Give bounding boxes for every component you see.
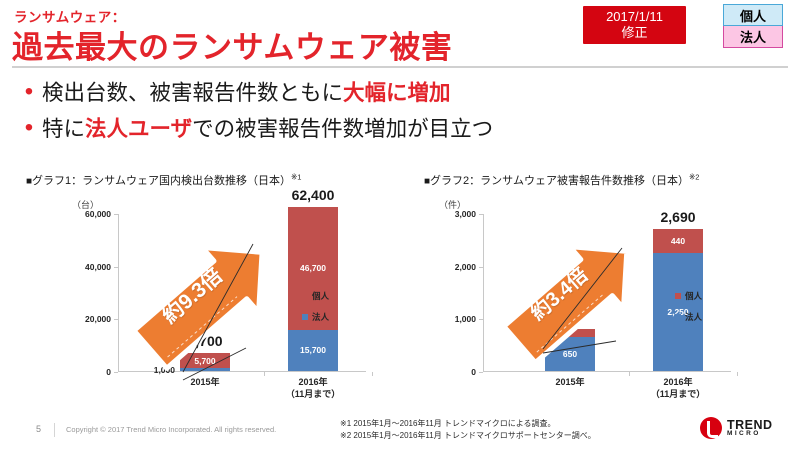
y-axis-tick-label: 40,000 — [85, 262, 111, 272]
bar-total-label: 2,690 — [660, 209, 695, 225]
bullet-text-plain: 検出台数、被害報告件数ともに — [42, 81, 343, 105]
legend-item-hojin: 法人 — [675, 311, 702, 323]
bar-segment-value: 1,000 — [154, 365, 175, 375]
y-axis-tick-mark — [114, 267, 118, 268]
legend-item-kojin: 個人 — [675, 290, 702, 302]
bar-1[interactable]: 1,0005,7006,7002015年 — [180, 353, 230, 371]
y-axis-tick-mark — [114, 319, 118, 320]
chart2-heading-note: ※2 — [689, 172, 699, 181]
x-axis-label: 2015年 — [555, 376, 584, 388]
trend-micro-logo: TREND MICRO — [700, 417, 773, 439]
x-axis-tick-mark — [629, 372, 630, 376]
bar-segment-kojin[interactable]: 440 — [653, 229, 703, 252]
bar-2[interactable]: 15,70046,70062,4002016年（11月まで） — [288, 207, 338, 371]
page-title: 過去最大のランサムウェア被害 — [12, 22, 452, 67]
bullet-marker: • — [16, 114, 42, 142]
x-axis-tick-mark — [737, 372, 738, 376]
bar-segment-value: 440 — [671, 236, 685, 246]
x-axis-label-line2: （11月まで） — [651, 388, 706, 400]
chart1-heading: ■グラフ1：ランサムウェア国内検出台数推移（日本）※1 — [26, 172, 301, 188]
title-divider — [12, 66, 788, 68]
bullet-text-plain: 特に — [42, 117, 85, 141]
bar-segment-value: 46,700 — [300, 263, 326, 273]
legend-item-hojin: 法人 — [302, 311, 329, 323]
bullet-text: 検出台数、被害報告件数ともに大幅に増加 — [42, 78, 451, 108]
footnote-2: ※2 2015年1月〜2016年11月 トレンドマイクロサポートセンター調べ。 — [340, 430, 596, 442]
bullet-text-highlight: 法人ユーザ — [85, 117, 192, 141]
bar-1[interactable]: 6501508002015年 — [545, 329, 595, 371]
bar-segment-value: 650 — [563, 349, 577, 359]
bar-segment-kojin[interactable]: 150 — [545, 329, 595, 337]
x-axis-label-line1: 2016年 — [651, 376, 706, 388]
y-axis-tick-label: 3,000 — [455, 209, 476, 219]
revision-date: 2017/1/11 — [606, 9, 663, 25]
y-axis-tick-label: 0 — [106, 367, 111, 377]
legend-label-hojin: 法人 — [685, 311, 702, 323]
bullet-list: • 検出台数、被害報告件数ともに大幅に増加 • 特に法人ユーザでの被害報告件数増… — [16, 78, 776, 150]
slide: ランサムウェア： 過去最大のランサムウェア被害 2017/1/11 修正 個人 … — [0, 0, 800, 450]
footnote-1: ※1 2015年1月〜2016年11月 トレンドマイクロによる調査。 — [340, 418, 596, 430]
copyright-text: Copyright © 2017 Trend Micro Incorporate… — [66, 425, 276, 434]
audience-tags: 個人 法人 — [723, 4, 783, 48]
bar-segment-hojin[interactable]: 650 — [545, 337, 595, 371]
bar-segment-value: 15,700 — [300, 345, 326, 355]
list-item: • 検出台数、被害報告件数ともに大幅に増加 — [16, 78, 776, 108]
chart2-y-axis — [483, 214, 484, 372]
chart2-x-axis — [483, 371, 731, 372]
x-axis-label-line1: 2015年 — [555, 376, 584, 388]
tag-kojin[interactable]: 個人 — [723, 4, 783, 26]
legend-swatch-kojin — [302, 293, 308, 299]
bar-segment-value: 150 — [526, 328, 540, 338]
bullet-text: 特に法人ユーザでの被害報告件数増加が目立つ — [42, 114, 493, 144]
page-number: 5 — [36, 424, 41, 434]
legend-item-kojin: 個人 — [302, 290, 329, 302]
chart2-heading: ■グラフ2：ランサムウェア被害報告件数推移（日本）※2 — [424, 172, 699, 188]
bar-segment-hojin[interactable]: 15,700 — [288, 330, 338, 371]
legend-label-kojin: 個人 — [685, 290, 702, 302]
legend-label-hojin: 法人 — [312, 311, 329, 323]
list-item: • 特に法人ユーザでの被害報告件数増加が目立つ — [16, 114, 776, 144]
chart1-heading-note: ※1 — [291, 172, 301, 181]
footnotes: ※1 2015年1月〜2016年11月 トレンドマイクロによる調査。 ※2 20… — [340, 418, 596, 443]
chart1-heading-text: グラフ1：ランサムウェア国内検出台数推移（日本） — [32, 175, 291, 187]
chart1-y-axis — [118, 214, 119, 372]
trend-micro-wordmark: TREND MICRO — [727, 419, 773, 438]
bar-total-label: 62,400 — [292, 187, 335, 203]
bullet-text-plain-2: での被害報告件数増加が目立つ — [192, 117, 493, 141]
revision-date-badge: 2017/1/11 修正 — [583, 6, 686, 44]
chart2-legend: 個人 法人 — [675, 290, 702, 332]
chart-detections: （台） 020,00040,00060,0001,0005,7006,70020… — [60, 198, 390, 413]
bar-segment-kojin[interactable]: 5,700 — [180, 353, 230, 368]
bar-total-label: 800 — [558, 309, 581, 325]
legend-swatch-kojin — [675, 293, 681, 299]
bullet-text-highlight: 大幅に増加 — [343, 81, 451, 105]
bullet-marker: • — [16, 78, 42, 106]
x-axis-tick-mark — [264, 372, 265, 376]
y-axis-tick-mark — [479, 372, 483, 373]
y-axis-tick-mark — [479, 319, 483, 320]
bar-segment-value: 5,700 — [194, 356, 215, 366]
x-axis-label: 2016年（11月まで） — [651, 376, 706, 400]
y-axis-tick-label: 2,000 — [455, 262, 476, 272]
y-axis-tick-label: 0 — [471, 367, 476, 377]
y-axis-tick-mark — [114, 214, 118, 215]
x-axis-label-line1: 2015年 — [190, 376, 219, 388]
chart1-legend: 個人 法人 — [302, 290, 329, 332]
logo-line-2: MICRO — [727, 431, 773, 438]
revision-label: 修正 — [621, 25, 647, 41]
footer-divider — [54, 423, 55, 437]
chart-incident-reports: （件） 01,0002,0003,0006501508002015年2,2504… — [425, 198, 755, 413]
chart2-heading-text: グラフ2：ランサムウェア被害報告件数推移（日本） — [430, 175, 689, 187]
trend-micro-mark-icon — [700, 417, 722, 439]
x-axis-label: 2015年 — [190, 376, 219, 388]
y-axis-tick-label: 60,000 — [85, 209, 111, 219]
x-axis-label-line1: 2016年 — [286, 376, 341, 388]
x-axis-tick-mark — [372, 372, 373, 376]
tag-hojin[interactable]: 法人 — [723, 26, 783, 48]
x-axis-label: 2016年（11月まで） — [286, 376, 341, 400]
bar-total-label: 6,700 — [187, 333, 222, 349]
y-axis-tick-mark — [114, 372, 118, 373]
y-axis-tick-mark — [479, 267, 483, 268]
x-axis-label-line2: （11月まで） — [286, 388, 341, 400]
legend-swatch-hojin — [302, 314, 308, 320]
y-axis-tick-label: 20,000 — [85, 314, 111, 324]
bar-segment-hojin[interactable]: 1,000 — [180, 368, 230, 371]
legend-label-kojin: 個人 — [312, 290, 329, 302]
legend-swatch-hojin — [675, 314, 681, 320]
y-axis-tick-label: 1,000 — [455, 314, 476, 324]
y-axis-tick-mark — [479, 214, 483, 215]
